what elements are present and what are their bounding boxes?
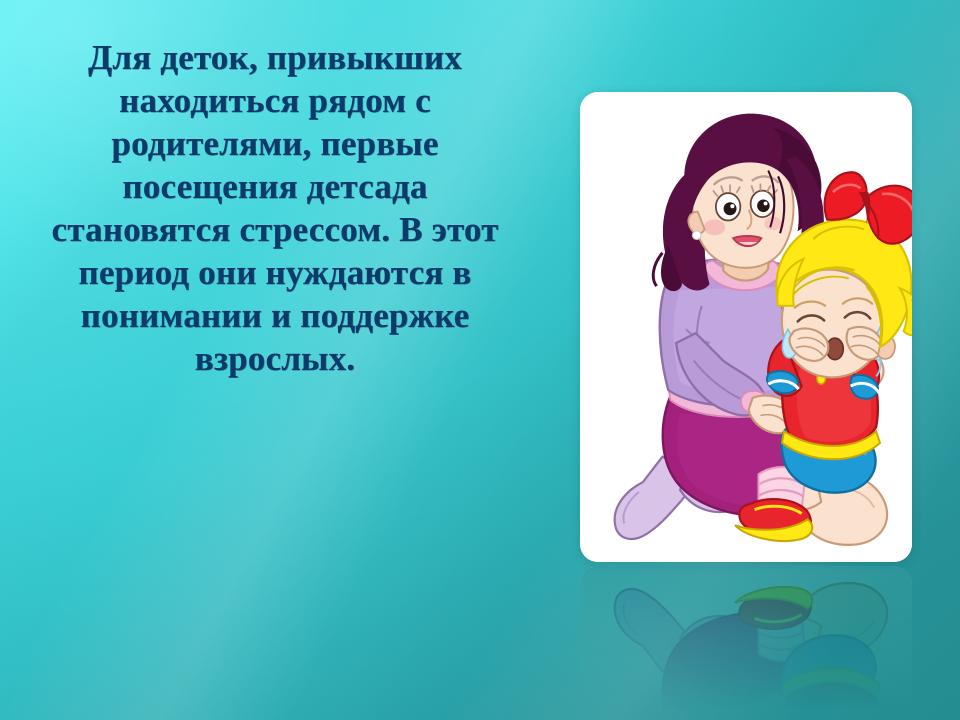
illustration-card <box>580 92 912 562</box>
illustration-reflection <box>580 566 912 716</box>
slide-body-text: Для деток, привыкших находиться рядом с … <box>40 36 510 380</box>
slide-canvas: Для деток, привыкших находиться рядом с … <box>0 0 960 720</box>
mother-comforting-child-illustration <box>580 92 912 562</box>
reflection-tint <box>580 566 912 716</box>
